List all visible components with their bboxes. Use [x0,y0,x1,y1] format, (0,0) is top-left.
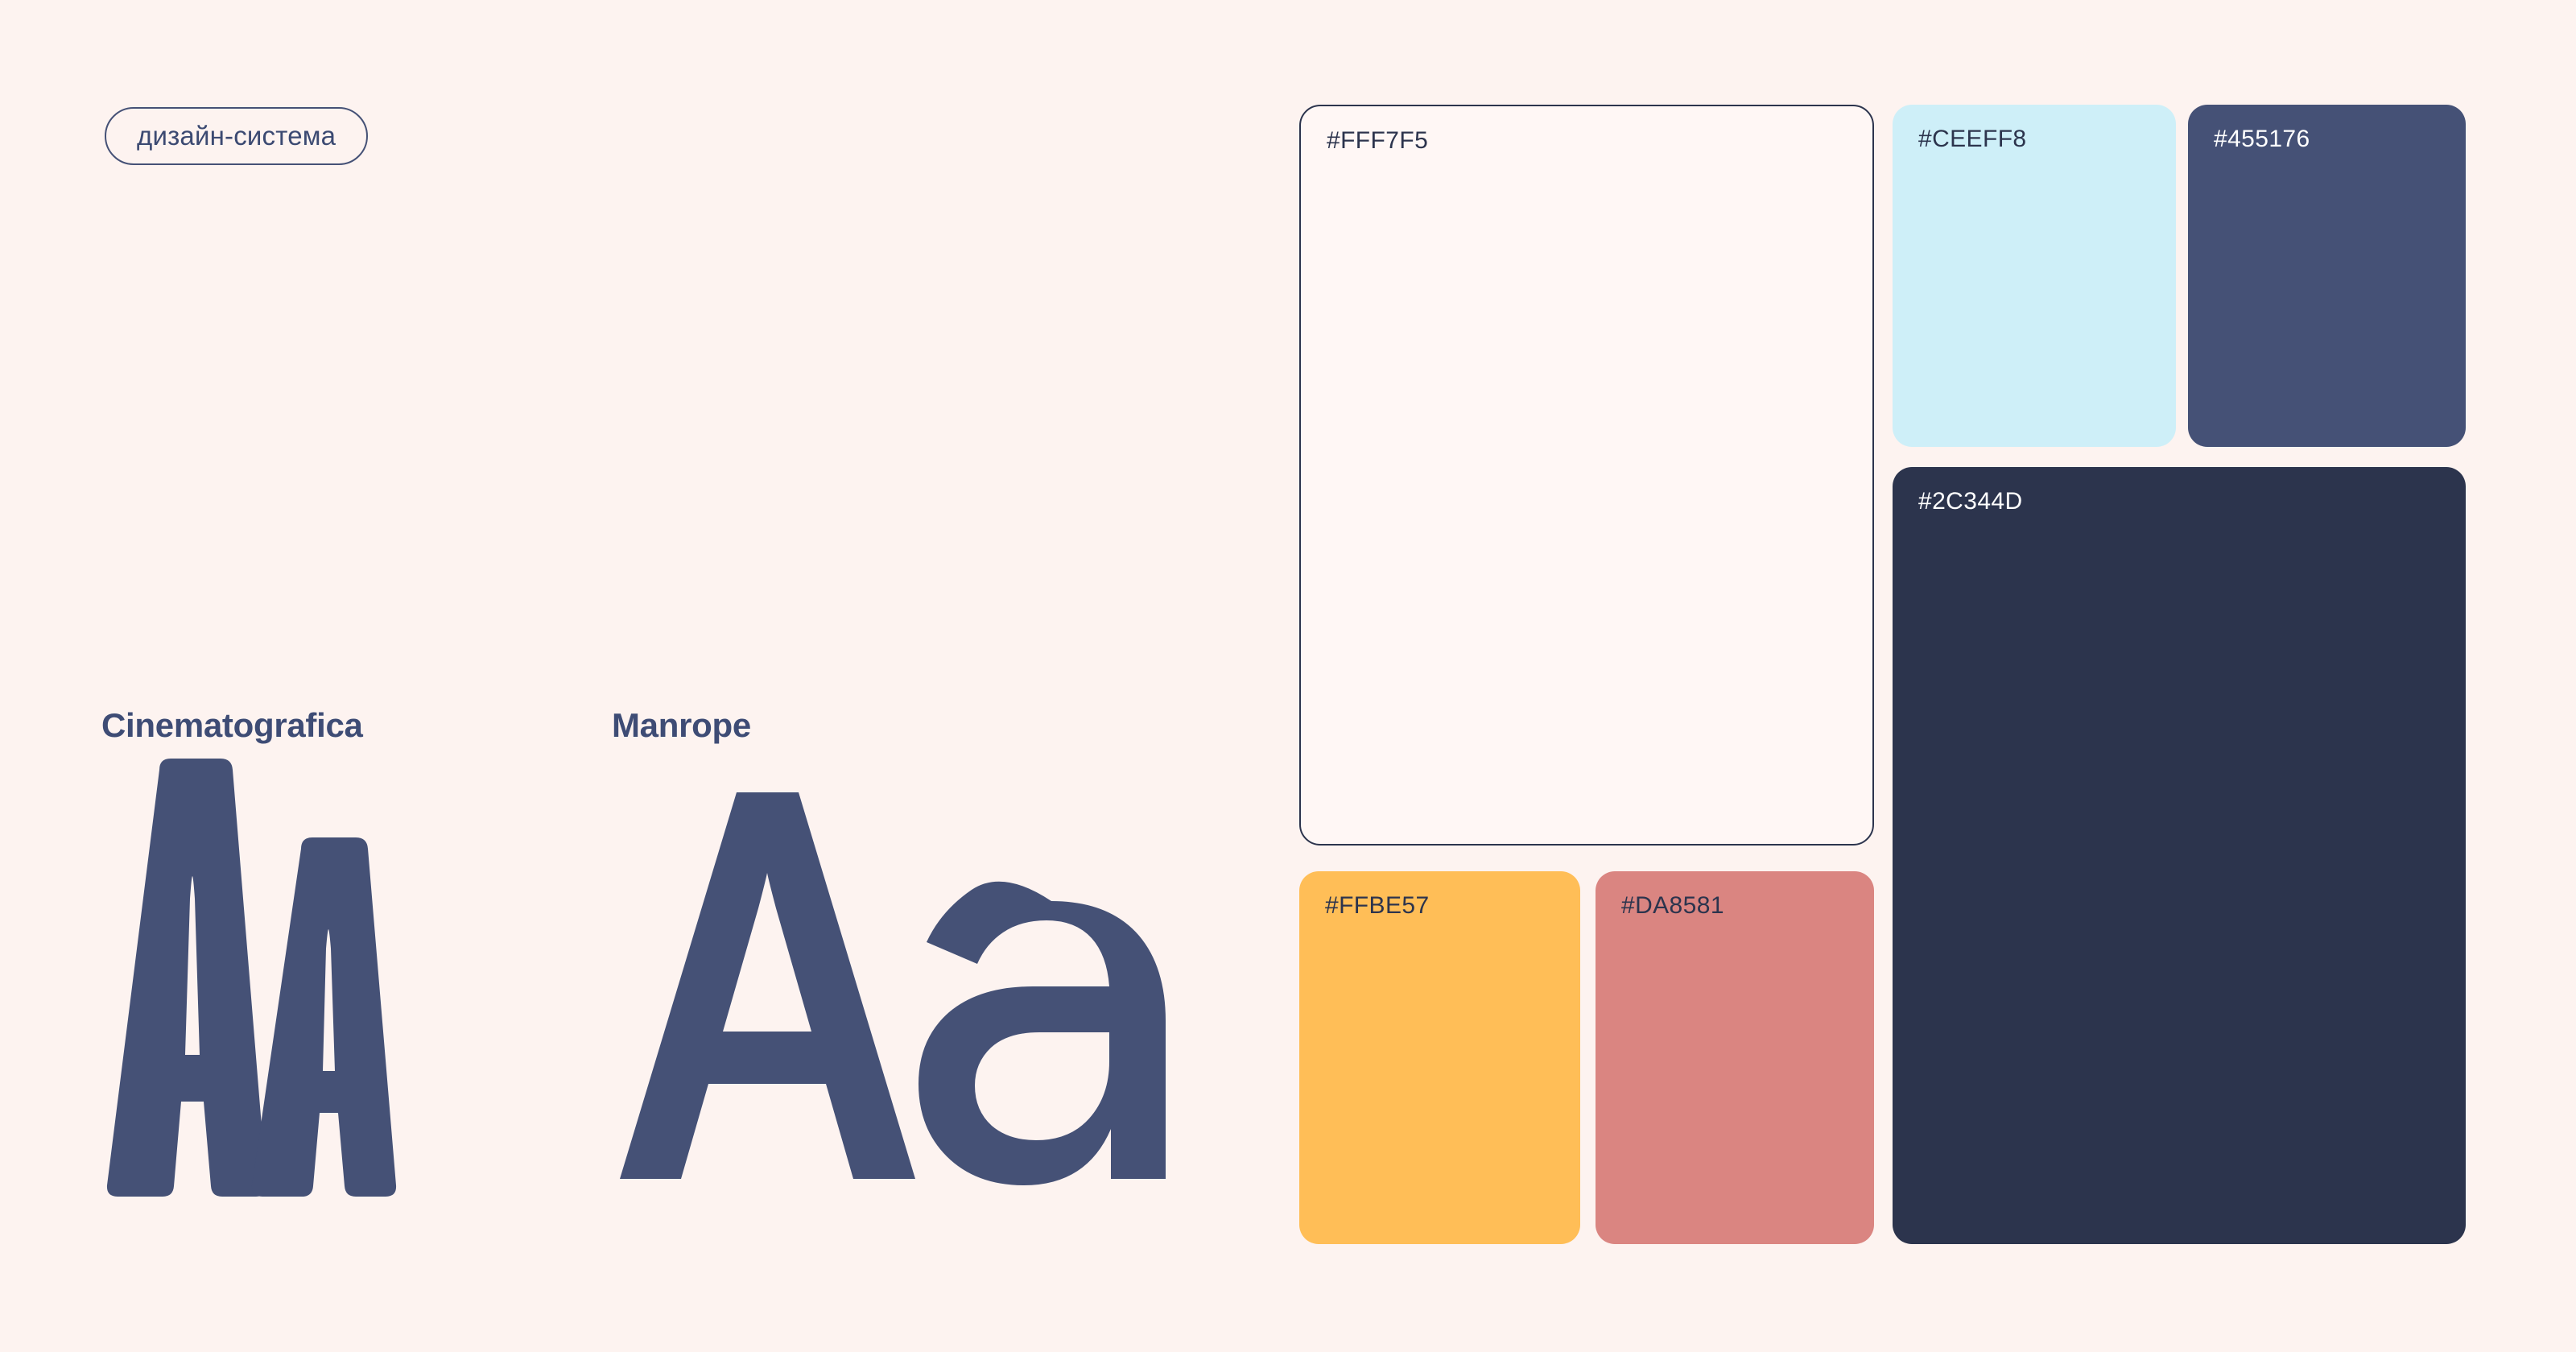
design-system-board: дизайн-система Cinematografica Manrope [0,0,2576,1352]
glyph-sample-cinematografica [101,755,423,1206]
color-hex-label: #455176 [2214,126,2310,153]
glyph-sample-manrope [620,744,1167,1211]
color-swatch-base-cream[interactable]: #FFF7F5 [1299,105,1874,846]
color-swatch-sky-blue[interactable]: #CEEFF8 [1893,105,2176,447]
cinematografica-Aa-glyphs [101,755,423,1206]
badge-label: дизайн-система [137,121,336,151]
color-hex-label: #DA8581 [1621,892,1724,920]
color-swatch-slate-blue[interactable]: #455176 [2188,105,2466,447]
color-hex-label: #CEEFF8 [1918,126,2027,153]
typography-section: Cinematografica Manrope [0,709,1256,1272]
manrope-Aa-glyphs [620,744,1167,1211]
font-specimen-manrope: Manrope [612,709,1224,742]
color-hex-label: #2C344D [1918,488,2023,515]
design-system-badge[interactable]: дизайн-система [105,107,368,165]
font-specimen-cinematografica: Cinematografica [101,709,552,742]
color-hex-label: #FFF7F5 [1327,127,1428,155]
color-palette-grid: #FFF7F5 #CEEFF8 #455176 #2C344D #FFBE57 … [1299,105,2467,1244]
font-name-manrope: Manrope [612,709,1224,742]
color-swatch-rose-clay[interactable]: #DA8581 [1596,871,1874,1244]
color-swatch-amber-yellow[interactable]: #FFBE57 [1299,871,1580,1244]
color-hex-label: #FFBE57 [1325,892,1430,920]
color-swatch-deep-navy[interactable]: #2C344D [1893,467,2466,1244]
font-name-cinematografica: Cinematografica [101,709,552,742]
